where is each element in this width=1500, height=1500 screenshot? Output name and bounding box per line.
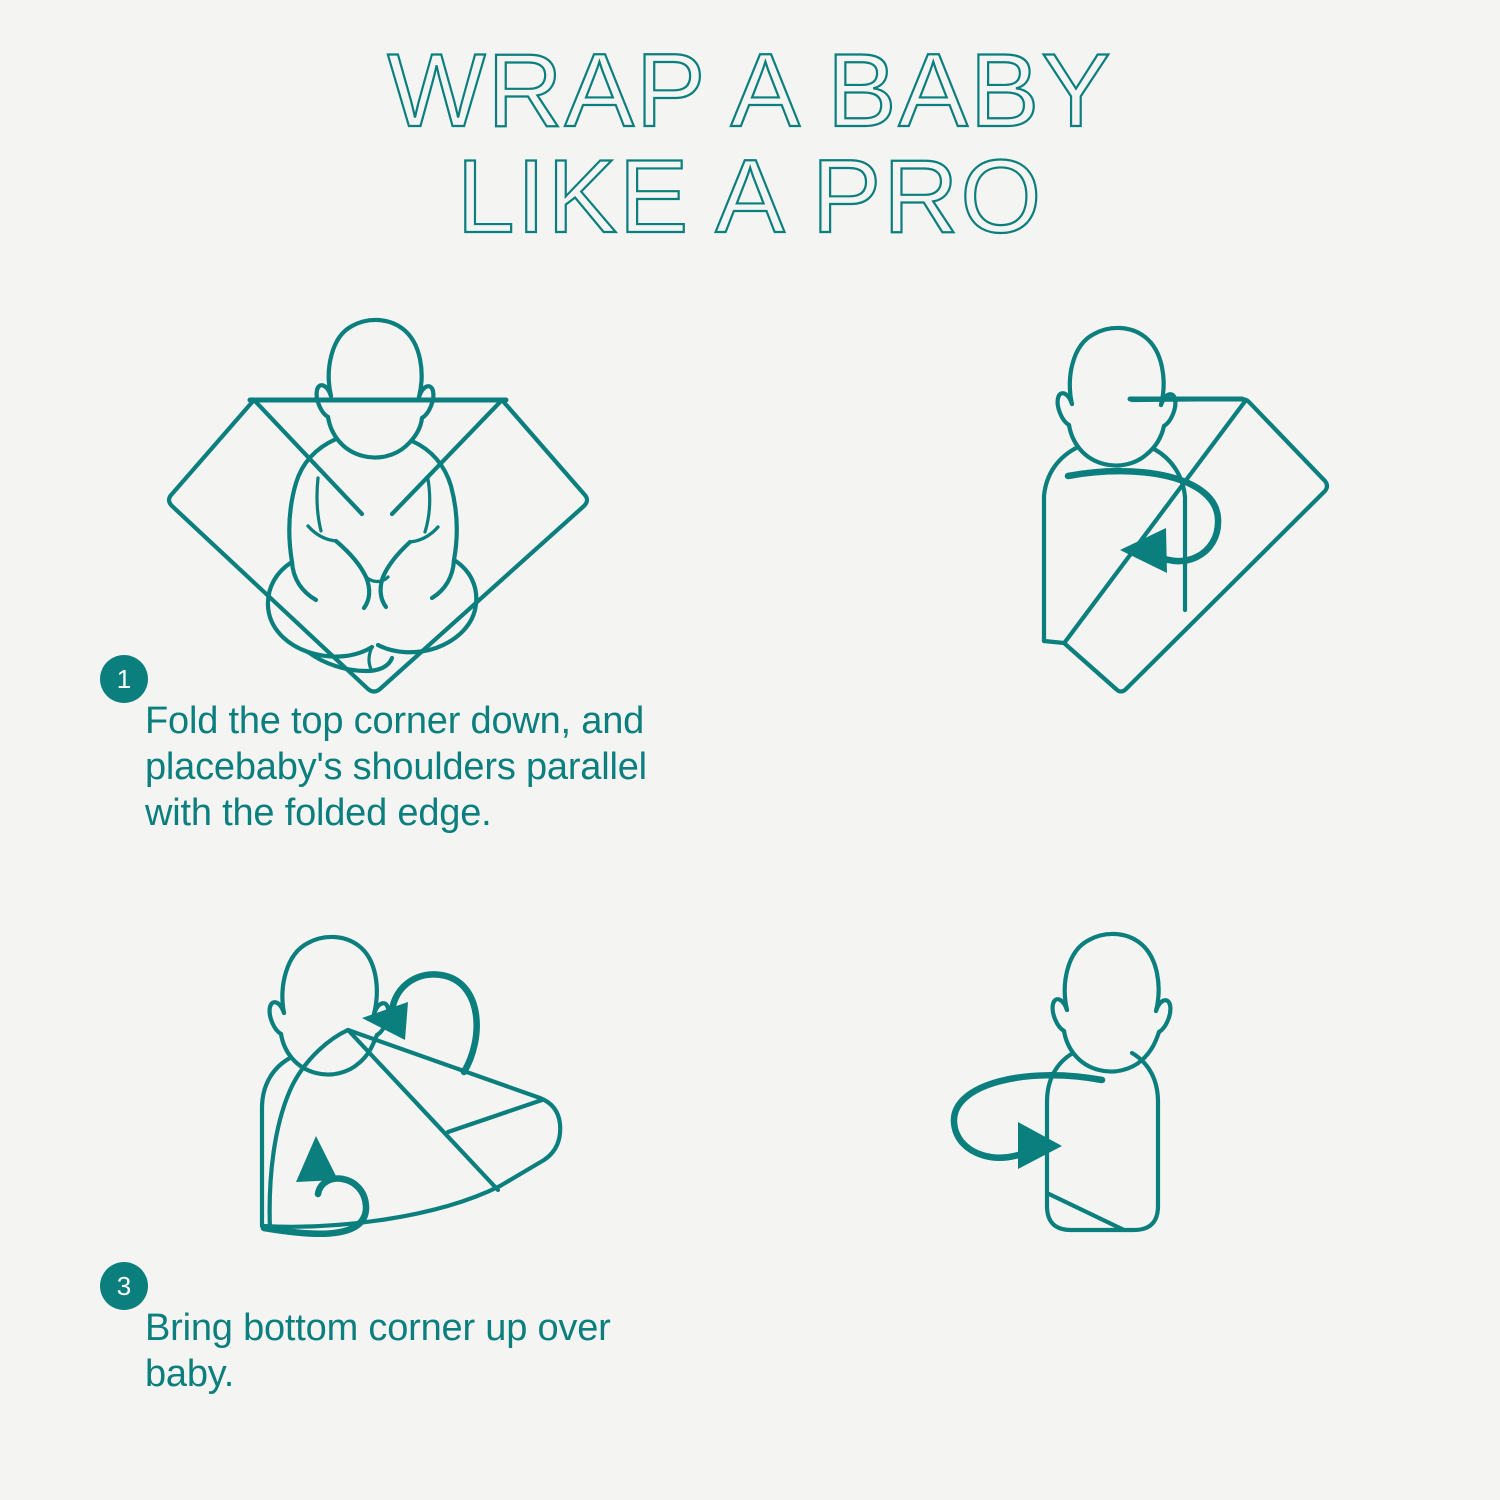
baby-arm-left bbox=[292, 562, 316, 600]
baby-body-bottom bbox=[1044, 641, 1064, 643]
baby-head-top bbox=[282, 937, 376, 1014]
wrap-arrow-head bbox=[1018, 1122, 1062, 1169]
blanket-crease-secondary bbox=[448, 1100, 542, 1132]
baby-sleeve-crease-left bbox=[317, 478, 321, 531]
baby-bottom-corner-up-icon bbox=[240, 910, 600, 1290]
baby-hand-left bbox=[336, 541, 369, 608]
page-title: WRAP A BABY LIKE A PRO bbox=[0, 38, 1500, 250]
baby-shoulder-right bbox=[412, 441, 457, 560]
illustration-step-4 bbox=[930, 910, 1230, 1270]
baby-left-corner-tucked-icon bbox=[1020, 300, 1350, 700]
arrow-upper-head bbox=[362, 1002, 408, 1040]
baby-hand-right bbox=[381, 542, 410, 607]
blanket-diamond-outline bbox=[169, 400, 587, 692]
fold-crease-right bbox=[392, 400, 502, 514]
baby-head-top bbox=[1065, 934, 1159, 1011]
baby-head-top bbox=[1070, 328, 1164, 405]
baby-head-top bbox=[329, 320, 422, 397]
infographic-canvas: WRAP A BABY LIKE A PRO bbox=[0, 0, 1500, 1500]
blanket-left-sweep bbox=[270, 1030, 348, 1230]
baby-sleeve-crease-right bbox=[425, 479, 430, 532]
blanket-body-outline bbox=[1064, 399, 1327, 692]
swaddled-baby-wrap-arrow-icon bbox=[930, 910, 1230, 1270]
step-4: 4 Bring right corner over baby and tuck … bbox=[750, 900, 1500, 1500]
baby-ear-left bbox=[270, 1002, 284, 1034]
baby-shoulder-left bbox=[289, 439, 336, 562]
step-1: 1 Fold the top corner down, and placebab… bbox=[0, 280, 750, 880]
baby-arm-right bbox=[432, 560, 454, 598]
illustration-step-1 bbox=[140, 300, 610, 700]
title-line-2: LIKE A PRO bbox=[0, 144, 1500, 250]
blanket-top-fan-edge bbox=[348, 1030, 560, 1186]
baby-jaw bbox=[328, 417, 422, 458]
illustration-step-3 bbox=[240, 910, 600, 1290]
step-3: 3 Bring bottom corner up over baby. bbox=[0, 900, 750, 1500]
step-caption-3: Bring bottom corner up over baby. bbox=[145, 1305, 625, 1397]
baby-cuff-left bbox=[308, 526, 336, 541]
baby-cuff-right bbox=[410, 527, 438, 542]
baby-sitting-on-diamond-blanket-icon bbox=[140, 300, 610, 700]
blanket-crease-main bbox=[348, 1030, 498, 1190]
title-line-1: WRAP A BABY bbox=[0, 38, 1500, 144]
arrow-lower-head bbox=[296, 1136, 338, 1182]
baby-leg-right bbox=[378, 560, 476, 652]
baby-jaw bbox=[1069, 425, 1164, 466]
step-caption-1: Fold the top corner down, and placebaby'… bbox=[145, 698, 685, 836]
blanket-tuck-fold bbox=[1049, 1194, 1124, 1230]
step-number-badge-1: 1 bbox=[100, 655, 148, 703]
illustration-step-2 bbox=[1020, 300, 1350, 700]
blanket-bottom-edge bbox=[262, 1186, 500, 1227]
step-2: 2 Tuck left corner under right arm, then… bbox=[750, 280, 1500, 880]
baby-ankle-crease bbox=[369, 647, 372, 671]
baby-ear-left bbox=[1053, 999, 1067, 1031]
baby-ear-left bbox=[1058, 393, 1072, 425]
step-number-badge-3: 3 bbox=[100, 1262, 148, 1310]
baby-ear-right bbox=[1156, 1000, 1170, 1032]
